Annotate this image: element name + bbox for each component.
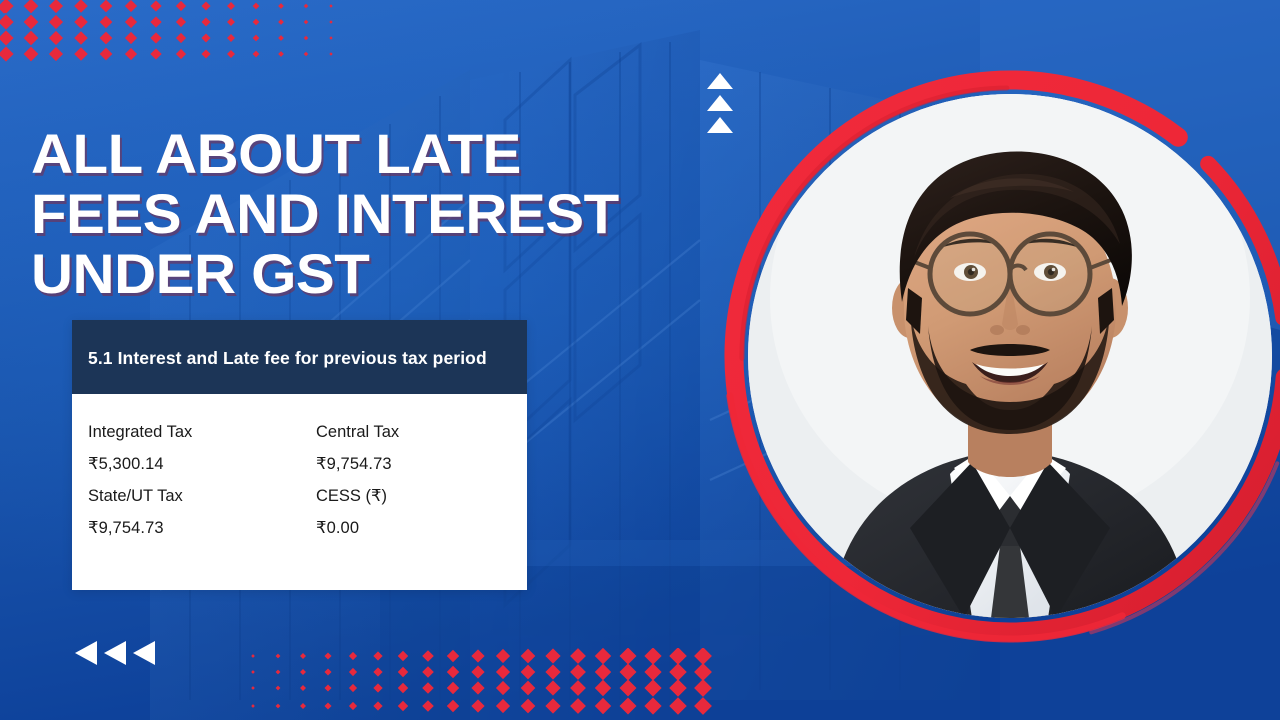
dot-pattern-top-left [0, 0, 370, 70]
presenter-portrait [714, 58, 1280, 658]
red-diamond-dot-grid [245, 648, 720, 720]
dot-pattern-bottom [245, 648, 720, 720]
play-left-icon [75, 641, 97, 665]
tax-value-cess: ₹0.00 [316, 512, 511, 544]
card-body: Integrated Tax Central Tax ₹5,300.14 ₹9,… [72, 394, 527, 590]
tax-label-state-ut: State/UT Tax [88, 480, 316, 512]
title-line-2: FEES AND INTEREST [31, 184, 759, 244]
tax-label-central: Central Tax [316, 416, 511, 448]
tax-label-integrated: Integrated Tax [88, 416, 316, 448]
tax-value-central: ₹9,754.73 [316, 448, 511, 480]
card-header: 5.1 Interest and Late fee for previous t… [72, 320, 527, 394]
triangle-left-group [75, 641, 155, 665]
portrait-illustration [714, 58, 1280, 658]
tax-grid: Integrated Tax Central Tax ₹5,300.14 ₹9,… [88, 416, 511, 544]
play-left-icon [104, 641, 126, 665]
title-line-3: UNDER GST [31, 244, 759, 304]
page-title: ALL ABOUT LATE FEES AND INTEREST UNDER G… [31, 124, 759, 304]
tax-value-state-ut: ₹9,754.73 [88, 512, 316, 544]
play-left-icon [133, 641, 155, 665]
tax-value-integrated: ₹5,300.14 [88, 448, 316, 480]
tax-label-cess: CESS (₹) [316, 480, 511, 512]
red-diamond-dot-grid [0, 0, 370, 70]
card-title: 5.1 Interest and Late fee for previous t… [88, 346, 511, 370]
gst-summary-card: 5.1 Interest and Late fee for previous t… [72, 320, 527, 590]
slide-canvas: ALL ABOUT LATE FEES AND INTEREST UNDER G… [0, 0, 1280, 720]
title-line-1: ALL ABOUT LATE [31, 124, 759, 184]
